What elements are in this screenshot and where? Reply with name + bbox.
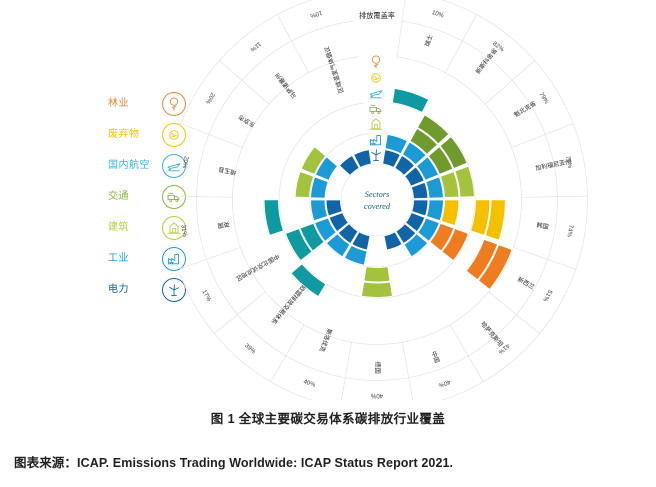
legend-item-label: 国内航空 — [108, 161, 158, 171]
legend-item-label: 林业 — [108, 99, 158, 109]
legend-item-airplane: 国内航空 — [108, 150, 188, 181]
grid-spoke — [340, 342, 352, 400]
coverage-percent: 10% — [431, 9, 445, 20]
sector-legend: 林业废弃物国内航空交通建筑工业电力 — [108, 88, 188, 305]
coverage-percent: 40% — [302, 378, 316, 389]
figure-caption: 图 1 全球主要碳交易体系碳排放行业覆盖 — [0, 408, 656, 427]
jurisdiction-name: 区域温室气体倡议 — [323, 45, 346, 94]
truck-icon — [368, 101, 386, 119]
legend-item-factory: 工业 — [108, 243, 188, 274]
jurisdiction-name: 中国北京试点地区 — [234, 252, 280, 283]
jurisdiction-name: 韩国 — [536, 221, 549, 231]
legend-item-waste: 废弃物 — [108, 119, 188, 150]
radial-axis-title: 排放覆盖率 — [359, 11, 395, 20]
factory-icon — [368, 132, 386, 150]
grid-spoke — [219, 60, 268, 104]
jurisdiction-name: 哈萨克斯坦 — [479, 320, 505, 348]
sector-cell — [311, 177, 328, 198]
waste-icon — [368, 70, 386, 88]
legend-item-label: 工业 — [108, 254, 158, 264]
figure-area: 林业废弃物国内航空交通建筑工业电力 瑞士10%新斯科舍省82%魁北克省79%加利… — [0, 0, 656, 400]
grid-spoke — [450, 325, 483, 382]
legend-item-tree: 林业 — [108, 88, 188, 119]
legend-item-truck: 交通 — [108, 181, 188, 212]
grid-spoke — [180, 196, 233, 197]
coverage-percent: 20% — [204, 91, 217, 106]
legend-item-power: 电力 — [108, 274, 188, 305]
sector-cell — [427, 200, 444, 221]
jurisdiction-name: 新斯科舍省 — [474, 47, 499, 76]
grid-spoke — [271, 325, 304, 382]
legend-item-building: 建筑 — [108, 212, 188, 243]
coverage-percent: 11% — [248, 40, 262, 53]
grid-spoke — [513, 247, 575, 269]
jurisdiction-name: 东京市 — [237, 113, 257, 129]
coverage-percent: 40% — [370, 392, 383, 399]
coverage-percent: 31% — [180, 224, 188, 238]
grid-spoke — [277, 15, 308, 73]
center-label-line2: covered — [364, 202, 391, 211]
jurisdiction-name: 斯洛伐克 — [318, 327, 334, 353]
grid-spoke — [214, 292, 265, 334]
tree-icon — [368, 54, 386, 72]
jurisdiction-name: 埼玉县 — [218, 165, 237, 176]
sector-cell — [426, 177, 443, 198]
coverage-percent: 74% — [565, 224, 574, 238]
grid-spoke — [521, 196, 587, 197]
sector-cell — [364, 267, 390, 282]
coverage-percent: 20% — [180, 155, 189, 169]
sector-cell — [311, 200, 328, 221]
center-hub — [345, 168, 409, 232]
center-label-line1: Sectors — [365, 190, 390, 199]
sector-cell — [392, 88, 428, 112]
grid-spoke — [402, 342, 414, 400]
coverage-percent: 10% — [309, 9, 323, 20]
coverage-percent: 75% — [564, 155, 573, 169]
jurisdiction-name: 欧盟排放交易体系 — [269, 283, 307, 325]
grid-spoke — [489, 292, 540, 334]
legend-item-label: 交通 — [108, 192, 158, 202]
figure-source: 图表来源：ICAP. Emissions Trading Worldwide: … — [14, 452, 654, 471]
jurisdiction-name: 德国 — [373, 362, 381, 374]
jurisdiction-name: 英国 — [217, 220, 230, 230]
airplane-icon — [368, 85, 386, 103]
legend-item-label: 电力 — [108, 285, 158, 295]
jurisdiction-name: 魁北克省 — [513, 99, 538, 119]
grid-spoke — [180, 247, 241, 269]
legend-item-label: 废弃物 — [108, 130, 158, 140]
coverage-percent: 39% — [243, 342, 257, 356]
coverage-percent: 51% — [541, 289, 553, 304]
grid-spoke — [485, 60, 534, 104]
coverage-percent: 40% — [437, 378, 451, 389]
grid-spoke — [445, 15, 476, 73]
building-icon — [368, 116, 386, 134]
jurisdiction-name: 中国 — [429, 350, 441, 364]
sector-cell — [362, 282, 393, 297]
radial-sector-chart: 瑞士10%新斯科舍省82%魁北克省79%加利福尼亚州75%韩国74%新西兰51%… — [180, 0, 600, 400]
jurisdiction-name: 新西兰 — [516, 275, 536, 291]
power-icon — [368, 147, 386, 165]
coverage-percent: 79% — [538, 91, 551, 106]
coverage-percent: 17% — [200, 289, 212, 304]
legend-item-label: 建筑 — [108, 223, 158, 233]
jurisdiction-name: 瑞士 — [423, 34, 434, 48]
